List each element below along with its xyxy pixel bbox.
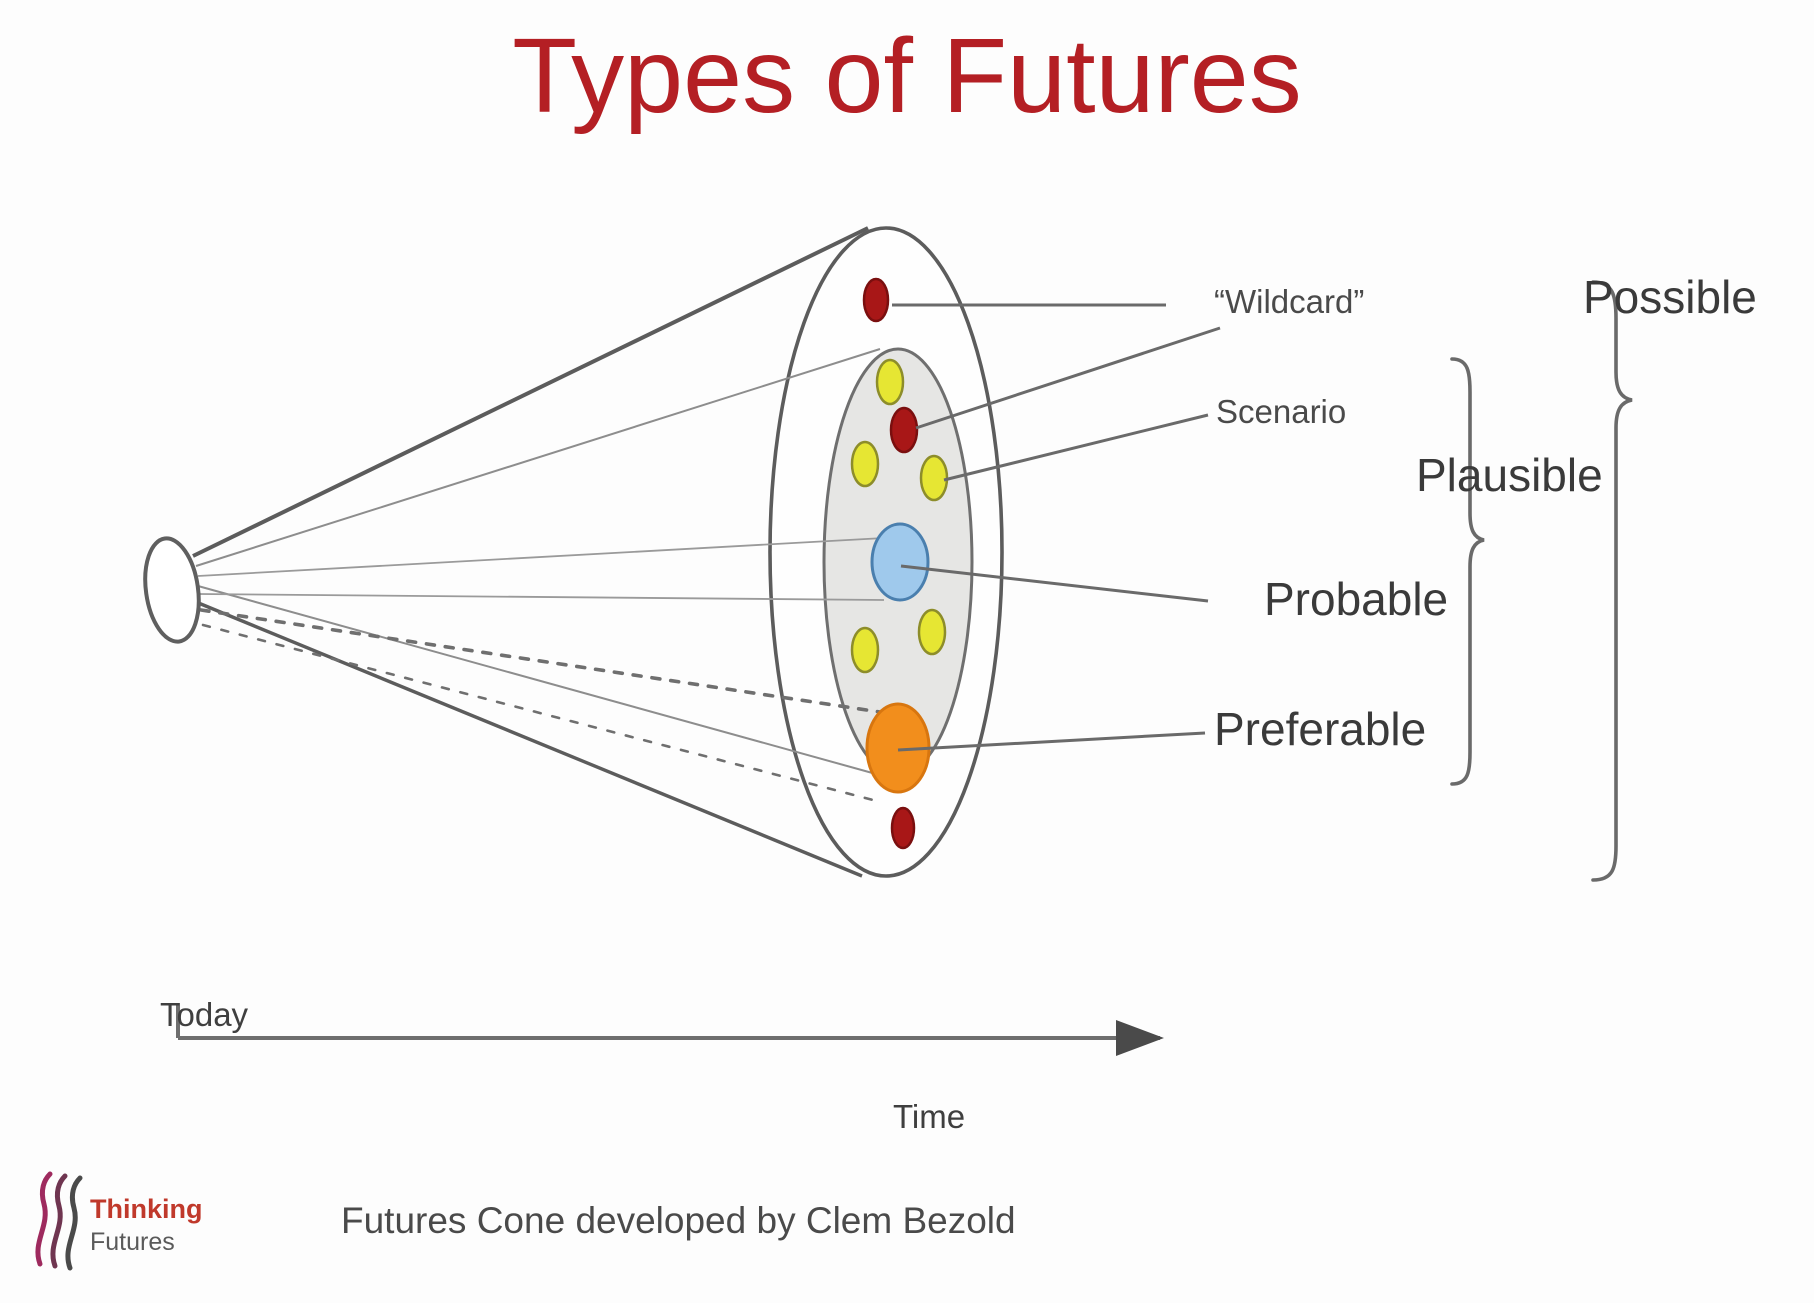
wildcard-marker-bottom[interactable] — [892, 808, 914, 848]
bracket-plausible — [1452, 359, 1484, 784]
bracket-label-plausible: Plausible — [1416, 448, 1603, 502]
axis-label-today: Today — [160, 996, 248, 1034]
bracket-possible — [1593, 282, 1632, 880]
wildcard-marker-inner[interactable] — [891, 408, 917, 452]
cone-outer-top-edge — [193, 228, 868, 556]
scenario-marker-5[interactable] — [852, 628, 878, 672]
axis-label-time: Time — [893, 1098, 965, 1136]
cone-inner-body — [196, 349, 972, 775]
scenario-marker-4[interactable] — [919, 610, 945, 654]
slide-canvas: Types of Futures — [0, 0, 1814, 1303]
scenario-marker-1[interactable] — [877, 360, 903, 404]
cone-outer-bottom-edge — [196, 602, 862, 876]
time-axis — [178, 1003, 1160, 1038]
callout-label-scenario: Scenario — [1216, 393, 1346, 431]
callout-label-wildcard: “Wildcard” — [1214, 283, 1364, 321]
probable-marker[interactable] — [872, 524, 928, 600]
cone-apex — [139, 535, 205, 645]
logo-mark: Thinking Futures — [28, 1168, 208, 1276]
bracket-label-possible: Possible — [1583, 270, 1757, 324]
scenario-marker-3[interactable] — [921, 456, 947, 500]
callout-label-probable: Probable — [1264, 572, 1448, 626]
flame-icon — [38, 1174, 80, 1268]
scenario-marker-2[interactable] — [852, 442, 878, 486]
figure-caption: Futures Cone developed by Clem Bezold — [341, 1200, 1016, 1242]
wildcard-marker-top[interactable] — [864, 279, 888, 321]
thinking-futures-logo[interactable]: Thinking Futures — [28, 1168, 208, 1276]
callout-label-preferable: Preferable — [1214, 702, 1426, 756]
logo-text-futures: Futures — [90, 1228, 175, 1256]
logo-text-thinking: Thinking — [90, 1194, 202, 1224]
preferable-dashed-bottom — [203, 625, 873, 800]
apex-ellipse — [139, 535, 205, 645]
